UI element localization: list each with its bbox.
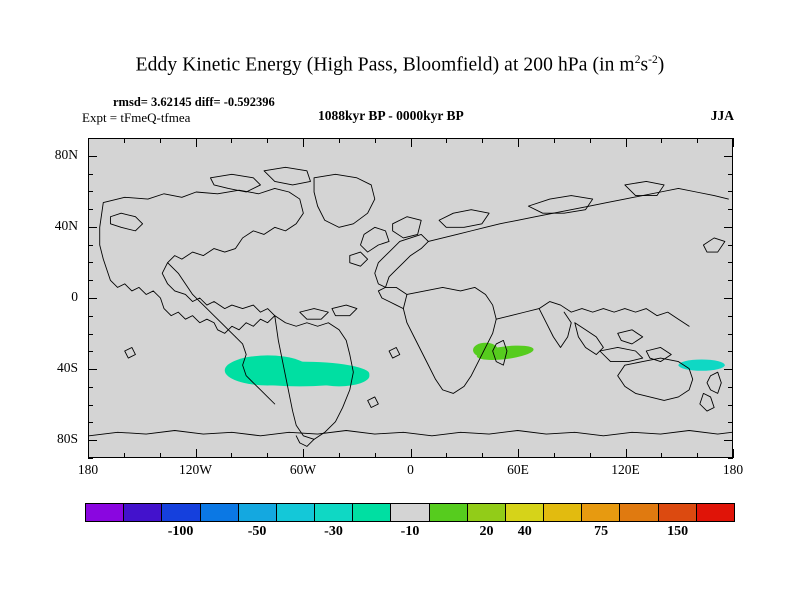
colorbar-tick-label: 20 [479,524,493,540]
colorbar-cell[interactable] [277,504,315,521]
y-axis-label: 80N [18,147,78,163]
x-tick [446,453,447,458]
y-tick [724,440,733,441]
x-tick [661,138,662,143]
x-axis-label: 120E [611,462,640,478]
y-tick [88,191,93,192]
x-tick [303,449,304,458]
x-tick [482,453,483,458]
x-tick [88,449,89,458]
colorbar-tick-label: -10 [401,524,420,540]
shaded-region-south-atlantic-c [309,365,370,386]
x-tick [554,453,555,458]
x-tick [339,138,340,143]
x-tick [518,138,519,147]
map-plot-area [88,138,733,458]
x-tick [411,138,412,147]
y-tick [88,440,97,441]
y-tick [728,245,733,246]
colorbar-cell[interactable] [124,504,162,521]
y-axis-label: 80S [18,431,78,447]
y-axis-label: 40N [18,218,78,234]
y-tick [728,405,733,406]
season-label: JJA [711,108,734,124]
world-map-svg [89,139,732,457]
x-tick [697,453,698,458]
y-tick [88,262,93,263]
y-tick [88,298,97,299]
y-tick [728,422,733,423]
y-tick [724,298,733,299]
y-tick [724,227,733,228]
shaded-anomaly-regions [225,343,725,387]
colorbar-cell[interactable] [659,504,697,521]
y-tick [724,156,733,157]
coastlines [89,167,732,446]
colorbar-cell[interactable] [239,504,277,521]
x-tick [88,138,89,147]
colorbar-tick-label: -100 [168,524,194,540]
shaded-region-south-atlantic-b [225,355,311,385]
figure-root: Eddy Kinetic Energy (High Pass, Bloomfie… [0,0,800,600]
y-tick [88,316,93,317]
y-tick [88,334,93,335]
y-tick [88,405,93,406]
x-tick [196,449,197,458]
title-text-mid: s [640,55,648,76]
y-axis-label: 40S [18,360,78,376]
x-tick [196,138,197,147]
title-text-end: ) [658,55,665,76]
x-tick [267,453,268,458]
x-tick [733,138,734,147]
colorbar[interactable] [85,503,735,522]
y-tick [88,387,93,388]
y-tick [728,174,733,175]
title-superscript-2: -2 [648,54,658,66]
x-tick [554,138,555,143]
colorbar-cell[interactable] [391,504,429,521]
y-tick [728,209,733,210]
x-tick [267,138,268,143]
y-tick [88,209,93,210]
x-axis-label: 180 [723,462,743,478]
y-tick [728,316,733,317]
x-axis-label: 120W [179,462,212,478]
period-label: 1088kyr BP - 0000kyr BP [318,108,464,124]
colorbar-cell[interactable] [201,504,239,521]
x-tick [518,449,519,458]
y-tick [728,262,733,263]
colorbar-cell[interactable] [430,504,468,521]
x-tick [446,138,447,143]
colorbar-tick-label: -30 [324,524,343,540]
colorbar-tick-label: 40 [518,524,532,540]
title-text-main: Eddy Kinetic Energy (High Pass, Bloomfie… [136,55,635,76]
colorbar-tick-label: 150 [667,524,688,540]
x-tick [124,453,125,458]
y-tick [728,334,733,335]
y-tick [88,369,97,370]
y-tick [88,351,93,352]
colorbar-tick-label: 75 [594,524,608,540]
y-tick [88,422,93,423]
colorbar-cell[interactable] [86,504,124,521]
x-tick [375,453,376,458]
x-axis-label: 0 [407,462,414,478]
x-tick [231,138,232,143]
x-tick [590,453,591,458]
y-tick [88,245,93,246]
y-tick [88,156,97,157]
rmsd-statistics-label: rmsd= 3.62145 diff= -0.592396 [113,95,275,110]
colorbar-tick-label: -50 [248,524,267,540]
colorbar-cell[interactable] [697,504,734,521]
x-tick [733,449,734,458]
y-tick [728,138,733,139]
x-tick [124,138,125,143]
colorbar-cell[interactable] [315,504,353,521]
x-tick [339,453,340,458]
page-title: Eddy Kinetic Energy (High Pass, Bloomfie… [0,54,800,77]
x-tick [626,138,627,147]
y-tick [728,351,733,352]
colorbar-cell[interactable] [506,504,544,521]
colorbar-cell[interactable] [162,504,200,521]
y-tick [724,369,733,370]
x-axis-label: 60W [290,462,316,478]
y-tick [728,458,733,459]
x-tick [661,453,662,458]
y-axis-label: 0 [18,289,78,305]
y-tick [88,138,93,139]
y-tick [728,387,733,388]
x-tick [160,453,161,458]
colorbar-cell[interactable] [582,504,620,521]
colorbar-cell[interactable] [544,504,582,521]
x-tick [231,453,232,458]
colorbar-cell[interactable] [353,504,391,521]
colorbar-cell[interactable] [620,504,658,521]
x-tick [160,138,161,143]
y-tick [728,280,733,281]
colorbar-cell[interactable] [468,504,506,521]
y-tick [88,227,97,228]
x-tick [697,138,698,143]
y-tick [88,458,93,459]
x-tick [590,138,591,143]
experiment-label: Expt = tFmeQ-tfmea [82,110,190,126]
shaded-region-tasman [678,359,724,370]
x-tick [482,138,483,143]
x-axis-label: 180 [78,462,98,478]
x-tick [411,449,412,458]
y-tick [88,280,93,281]
x-tick [375,138,376,143]
x-tick [303,138,304,147]
y-tick [88,174,93,175]
y-tick [728,191,733,192]
x-tick [626,449,627,458]
x-axis-label: 60E [507,462,529,478]
